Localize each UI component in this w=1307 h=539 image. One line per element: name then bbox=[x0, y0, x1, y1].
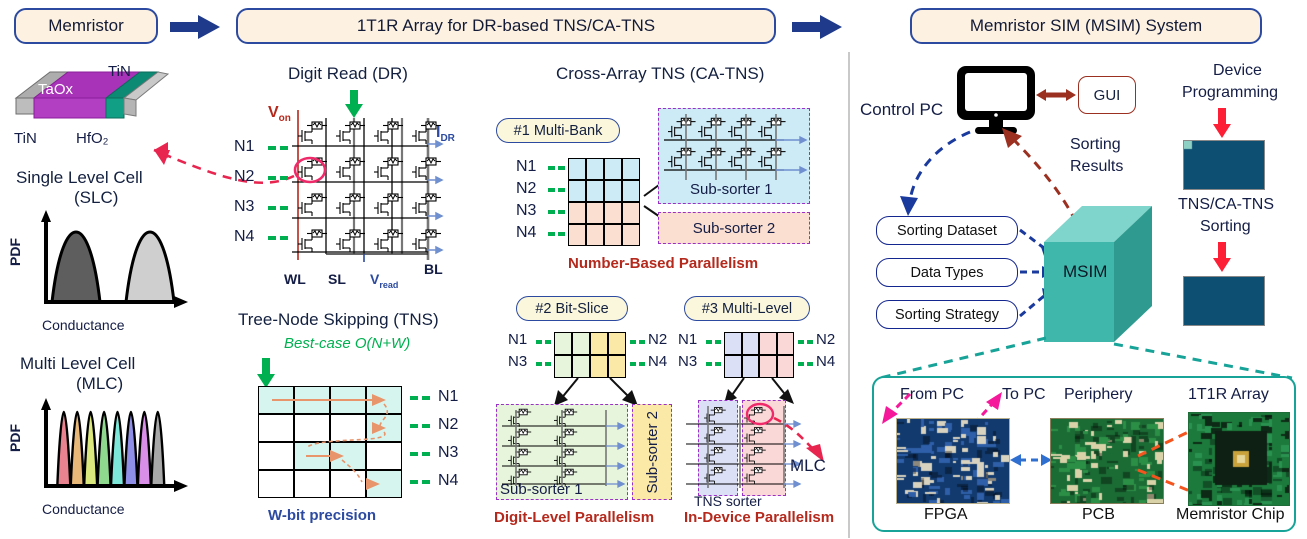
ml-dash-r0 bbox=[798, 340, 804, 344]
catns-tag-multilevel[interactable]: #3 Multi-Level bbox=[684, 296, 810, 321]
bitslice-grid bbox=[554, 332, 626, 378]
fpga-board-photo bbox=[896, 418, 1010, 504]
device-programming-down-arrow bbox=[1212, 108, 1232, 138]
bs-dash-l0b bbox=[545, 340, 551, 344]
dr-row-dash-0b bbox=[280, 146, 288, 150]
tns-row-dash-2 bbox=[410, 452, 418, 456]
mlc-y-axis-label: PDF bbox=[8, 424, 24, 452]
catns-title: Cross-Array TNS (CA-TNS) bbox=[556, 64, 764, 83]
device-label-taox: TaOx bbox=[38, 82, 73, 99]
ml-dash-l0 bbox=[706, 340, 712, 344]
mb-row-label-2: N3 bbox=[516, 202, 536, 220]
input-data-types[interactable]: Data Types bbox=[876, 258, 1018, 287]
mlc-title-line2: (MLC) bbox=[76, 374, 123, 393]
header-pill-array[interactable]: 1T1R Array for DR-based TNS/CA-TNS bbox=[236, 8, 776, 44]
mb-row-dash-1b bbox=[558, 188, 565, 192]
conductance-map-top bbox=[1183, 140, 1265, 190]
bs-dash-r1 bbox=[630, 362, 636, 366]
bitslice-subsorter1-schematic bbox=[502, 408, 624, 488]
gui-box[interactable]: GUI bbox=[1078, 76, 1136, 114]
tns-row-dash-1b bbox=[422, 424, 430, 428]
dr-row-label-3: N4 bbox=[234, 228, 254, 246]
mb-row-dash-2b bbox=[558, 210, 565, 214]
device-programming-line2: Programming bbox=[1182, 84, 1278, 102]
tns-row-dash-3b bbox=[422, 480, 430, 484]
dr-wl-label: WL bbox=[284, 272, 306, 288]
mb-row-label-3: N4 bbox=[516, 224, 536, 242]
tns-title: Tree-Node Skipping (TNS) bbox=[238, 310, 439, 329]
dr-row-dash-2b bbox=[280, 206, 288, 210]
tns-sorting-line1: TNS/CA-TNS bbox=[1178, 196, 1274, 214]
dr-row-dash-3b bbox=[280, 236, 288, 240]
tns-row-dash-2b bbox=[422, 452, 430, 456]
header-left-label: Memristor bbox=[48, 16, 124, 36]
mb-row-dash-0b bbox=[558, 166, 565, 170]
bitslice-footer: Digit-Level Parallelism bbox=[494, 510, 654, 527]
ml-dash-l0b bbox=[715, 340, 721, 344]
sorting-down-arrow bbox=[1212, 242, 1232, 272]
bs-row-label-r1: N4 bbox=[648, 354, 667, 371]
dr-row-dash-3 bbox=[268, 236, 276, 240]
input-sorting-strategy[interactable]: Sorting Strategy bbox=[876, 300, 1018, 329]
tns-row-dash-0 bbox=[410, 396, 418, 400]
ml-dash-l1 bbox=[706, 362, 712, 366]
section-divider bbox=[848, 52, 850, 538]
tns-row-label-0: N1 bbox=[438, 388, 458, 406]
bs-dash-l0 bbox=[536, 340, 542, 344]
header-pill-msim[interactable]: Memristor SIM (MSIM) System bbox=[910, 8, 1262, 44]
tns-path-overlay bbox=[258, 386, 402, 498]
device-label-hfo2: HfO₂ bbox=[76, 131, 109, 148]
cube-to-hardware-connectors bbox=[868, 330, 1300, 382]
slc-plot bbox=[30, 210, 190, 318]
memristor-chip-photo bbox=[1188, 412, 1290, 506]
multilevel-sorter-label: TNS sorter bbox=[694, 494, 762, 510]
input-sorting-dataset[interactable]: Sorting Dataset bbox=[876, 216, 1018, 245]
von-label: Von bbox=[268, 104, 291, 124]
hw-periphery-label: Periphery bbox=[1064, 386, 1132, 404]
dr-row-dash-1b bbox=[280, 176, 288, 180]
sub-sorter-2-label: Sub-sorter 2 bbox=[693, 220, 776, 237]
tns-bestcase: Best-case O(N+W) bbox=[284, 336, 410, 353]
ml-row-label-r1: N4 bbox=[816, 354, 835, 371]
arrow-middle-to-right bbox=[790, 13, 846, 41]
mlc-title-line1: Multi Level Cell bbox=[20, 354, 135, 373]
dr-row-dash-1 bbox=[268, 176, 276, 180]
device-label-tin-bottom: TiN bbox=[14, 131, 37, 148]
bitslice-subsorter2-panel: Sub-sorter 2 bbox=[632, 404, 672, 500]
bs-row-label-l1: N3 bbox=[508, 354, 527, 371]
mb-row-label-1: N2 bbox=[516, 180, 536, 198]
mlc-plot bbox=[30, 398, 190, 502]
slc-y-axis-label: PDF bbox=[8, 238, 24, 266]
slc-title-line2: (SLC) bbox=[74, 188, 118, 207]
sub-sorter-2-panel: Sub-sorter 2 bbox=[658, 212, 810, 244]
bs-dash-l1 bbox=[536, 362, 542, 366]
mb-row-dash-3b bbox=[558, 232, 565, 236]
pc-gui-double-arrow bbox=[1036, 86, 1076, 104]
hw-pcb-label: PCB bbox=[1082, 506, 1115, 524]
ml-row-label-l1: N3 bbox=[678, 354, 697, 371]
bs-dash-r1b bbox=[639, 362, 645, 366]
control-pc-label: Control PC bbox=[860, 100, 943, 119]
header-pill-memristor[interactable]: Memristor bbox=[14, 8, 158, 44]
mb-row-dash-1 bbox=[548, 188, 555, 192]
mb-row-label-0: N1 bbox=[516, 158, 536, 176]
bs-row-label-r0: N2 bbox=[648, 332, 667, 349]
msim-cube-label: MSIM bbox=[1063, 262, 1107, 281]
tns-green-down-arrow bbox=[256, 358, 276, 388]
multibank-grid bbox=[568, 158, 640, 246]
dr-row-dash-0 bbox=[268, 146, 276, 150]
header-middle-label: 1T1R Array for DR-based TNS/CA-TNS bbox=[357, 16, 655, 36]
ml-dash-l1b bbox=[715, 362, 721, 366]
device-programming-line1: Device bbox=[1213, 62, 1262, 80]
multibank-footer: Number-Based Parallelism bbox=[568, 256, 758, 273]
mb-row-dash-0 bbox=[548, 166, 555, 170]
sub-sorter-1-label: Sub-sorter 1 bbox=[690, 182, 773, 199]
bs-dash-r0b bbox=[639, 340, 645, 344]
ml-dash-r1b bbox=[807, 362, 813, 366]
bitslice-subsorter1-label: Sub-sorter 1 bbox=[500, 482, 583, 499]
tns-row-label-3: N4 bbox=[438, 472, 458, 490]
digit-read-title: Digit Read (DR) bbox=[288, 64, 408, 83]
conductance-map-bottom bbox=[1183, 276, 1265, 326]
mlc-x-axis-label: Conductance bbox=[42, 502, 125, 518]
dr-sl-label: SL bbox=[328, 272, 346, 288]
tns-row-dash-0b bbox=[422, 396, 430, 400]
multilevel-mlc-label: MLC bbox=[790, 456, 826, 475]
arrow-left-to-middle bbox=[168, 13, 224, 41]
tns-row-label-2: N3 bbox=[438, 444, 458, 462]
hw-to-pc-label: To PC bbox=[1002, 386, 1046, 404]
hw-fpga-label: FPGA bbox=[924, 506, 968, 524]
tns-row-label-1: N2 bbox=[438, 416, 458, 434]
dr-row-dash-2 bbox=[268, 206, 276, 210]
hw-array-label: 1T1R Array bbox=[1188, 386, 1269, 404]
hw-chip-label: Memristor Chip bbox=[1176, 506, 1284, 524]
ml-row-label-r0: N2 bbox=[816, 332, 835, 349]
tns-footer: W-bit precision bbox=[268, 508, 376, 525]
mb-row-dash-3 bbox=[548, 232, 555, 236]
slc-title-line1: Single Level Cell bbox=[16, 168, 143, 187]
dr-array-schematic bbox=[292, 104, 442, 268]
bs-dash-r0 bbox=[630, 340, 636, 344]
tns-row-dash-1 bbox=[410, 424, 418, 428]
tns-row-dash-3 bbox=[410, 480, 418, 484]
dr-row-label-0: N1 bbox=[234, 138, 254, 156]
bs-row-label-l0: N1 bbox=[508, 332, 527, 349]
header-right-label: Memristor SIM (MSIM) System bbox=[970, 16, 1202, 36]
tns-sorting-line2: Sorting bbox=[1200, 218, 1251, 236]
dr-vread-label: Vread bbox=[370, 272, 398, 290]
sub-sorter-1-schematic bbox=[664, 112, 806, 184]
catns-tag-bitslice[interactable]: #2 Bit-Slice bbox=[516, 296, 628, 321]
fpga-pcb-link-arrow bbox=[1010, 450, 1052, 470]
catns-tag-multibank[interactable]: #1 Multi-Bank bbox=[496, 118, 620, 143]
device-label-tin-top: TiN bbox=[108, 64, 131, 81]
slc-x-axis-label: Conductance bbox=[42, 318, 125, 334]
dr-row-label-2: N3 bbox=[234, 198, 254, 216]
ml-dash-r1 bbox=[798, 362, 804, 366]
bitslice-subsorter2-label: Sub-sorter 2 bbox=[644, 411, 661, 494]
dr-bl-label: BL bbox=[424, 262, 443, 278]
dr-row-label-1: N2 bbox=[234, 168, 254, 186]
multilevel-footer: In-Device Parallelism bbox=[684, 510, 834, 527]
bs-dash-l1b bbox=[545, 362, 551, 366]
mb-row-dash-2 bbox=[548, 210, 555, 214]
multilevel-grid bbox=[724, 332, 794, 378]
ml-row-label-l0: N1 bbox=[678, 332, 697, 349]
ml-dash-r0b bbox=[807, 340, 813, 344]
pc-to-inputs-dashed-arrow bbox=[888, 128, 978, 220]
